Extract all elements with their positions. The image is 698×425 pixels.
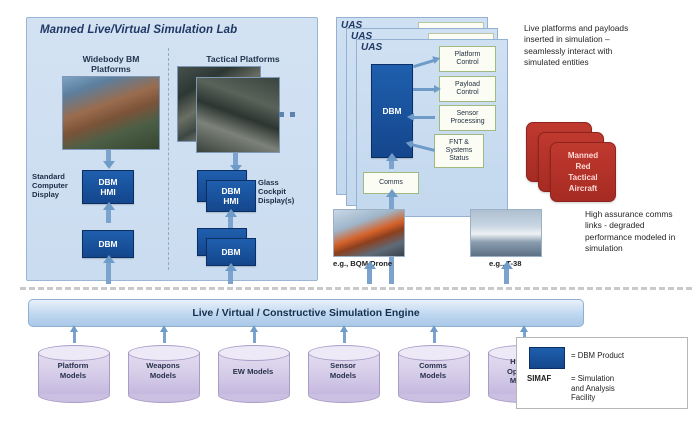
red-card-line4: Aircraft <box>569 183 597 194</box>
simulation-engine-bar[interactable]: Live / Virtual / Constructive Simulation… <box>28 299 584 327</box>
live-virtual-boundary-line <box>20 287 692 290</box>
widebody-dbm-hmi-box[interactable]: DBM HMI <box>82 170 134 204</box>
t38-photo <box>470 209 542 257</box>
widebody-dbm-box[interactable]: DBM <box>82 230 134 258</box>
platform-control-line2: Control <box>456 59 478 67</box>
live-platforms-note: Live platforms and payloads inserted in … <box>524 23 644 69</box>
uas-sensor-processing-box[interactable]: Sensor Processing <box>439 105 496 131</box>
cylinder-label: Platform Models <box>38 361 108 380</box>
glass-line3: Display(s) <box>258 196 310 205</box>
simaf-value-line3: Facility <box>571 393 677 403</box>
dbm-comms-arrow <box>389 160 394 169</box>
engine-stub-5 <box>433 331 436 343</box>
engine-stub-2 <box>163 331 166 343</box>
uas-dbm-label: DBM <box>382 106 401 116</box>
sensor-processing-line2: Processing <box>450 118 484 126</box>
payload-control-line1: Payload <box>455 81 480 89</box>
tactical-photo-front <box>196 77 280 153</box>
t38-caption: e.g., T-38 <box>489 259 549 268</box>
cyl4-line1: Comms <box>398 361 468 371</box>
legend-box: = DBM Product SIMAF = Simulation and Ana… <box>516 337 688 409</box>
simaf-value-label: = Simulation and Analysis Facility <box>571 374 677 403</box>
tactical-hmi-line1: DBM <box>221 186 240 196</box>
simaf-value-line1: = Simulation <box>571 374 677 384</box>
payload-control-line2: Control <box>456 89 478 97</box>
t38-to-engine-arrow <box>504 268 509 284</box>
std-display-line3: Display <box>32 190 80 199</box>
cyl1-line1: Weapons <box>128 361 198 371</box>
tactical-ellipsis-dot-1 <box>279 112 284 117</box>
tactical-hmi-line2: HMI <box>223 196 238 206</box>
widebody-column-title: Widebody BM Platforms <box>58 54 164 74</box>
dbm-product-label: = DBM Product <box>571 351 624 361</box>
cyl3-line2: Models <box>308 371 378 381</box>
fnt-status-line1: FNT & <box>449 139 469 147</box>
cylinder-label: EW Models <box>218 367 288 377</box>
simulation-engine-label: Live / Virtual / Constructive Simulation… <box>192 308 419 319</box>
tactical-ellipsis-dot-2 <box>290 112 295 117</box>
uas-label-front: UAS <box>361 42 382 53</box>
bqm-drone-to-engine-arrow <box>367 268 372 284</box>
widebody-hmi-line1: DBM <box>98 177 117 187</box>
engine-stub-1 <box>73 331 76 343</box>
engine-stub-3 <box>253 331 256 343</box>
bqm-drone-photo <box>333 209 405 257</box>
cylinder-top <box>308 345 380 361</box>
sensor-processing-line1: Sensor <box>457 110 479 118</box>
model-cylinder-platform[interactable]: Platform Models <box>38 345 110 401</box>
cylinder-label: Sensor Models <box>308 361 378 380</box>
red-card-line2: Red <box>575 161 590 172</box>
glass-cockpit-display-label: Glass Cockpit Display(s) <box>258 178 310 205</box>
platform-control-line1: Platform <box>455 51 481 59</box>
uas-fnt-systems-status-box[interactable]: FNT & Systems Status <box>434 134 484 168</box>
standard-computer-display-label: Standard Computer Display <box>32 172 80 199</box>
cylinder-top <box>128 345 200 361</box>
red-aircraft-card-front[interactable]: Manned Red Tactical Aircraft <box>550 142 616 202</box>
manned-lab-title: Manned Live/Virtual Simulation Lab <box>40 24 237 36</box>
cyl4-line2: Models <box>398 371 468 381</box>
tactical-photo-to-hmi-arrow <box>233 153 238 166</box>
tactical-dbm-hmi-box[interactable]: DBM HMI <box>206 180 256 212</box>
fnt-status-line2: Systems <box>446 147 472 155</box>
widebody-photo-to-hmi-arrow <box>106 150 111 162</box>
cyl3-line1: Sensor <box>308 361 378 371</box>
tactical-dbm-label: DBM <box>221 247 240 257</box>
dbm-to-payload-control-arrow <box>413 88 435 91</box>
uas-payload-control-box[interactable]: Payload Control <box>439 76 496 102</box>
widebody-dbm-label: DBM <box>98 239 117 249</box>
dbm-product-swatch <box>529 347 565 369</box>
model-cylinder-sensor[interactable]: Sensor Models <box>308 345 380 401</box>
widebody-hmi-dbm-arrow <box>106 209 111 223</box>
widebody-hmi-line2: HMI <box>100 187 115 197</box>
cyl0-line2: Models <box>38 371 108 381</box>
cylinder-top <box>38 345 110 361</box>
cylinder-label: Weapons Models <box>128 361 198 380</box>
engine-stub-4 <box>343 331 346 343</box>
lab-column-divider <box>168 48 169 270</box>
cyl1-line2: Models <box>128 371 198 381</box>
tactical-column-title: Tactical Platforms <box>180 54 306 64</box>
cylinder-label: Comms Models <box>398 361 468 380</box>
cylinder-top <box>218 345 290 361</box>
cylinder-top <box>398 345 470 361</box>
model-cylinder-weapons[interactable]: Weapons Models <box>128 345 200 401</box>
high-assurance-note: High assurance comms links - degraded pe… <box>585 209 677 255</box>
uas-comms-label: Comms <box>379 179 403 187</box>
red-card-line3: Tactical <box>568 172 597 183</box>
std-display-line2: Computer <box>32 181 80 190</box>
model-cylinder-comms[interactable]: Comms Models <box>398 345 470 401</box>
red-card-line1: Manned <box>568 150 598 161</box>
tactical-title-line1: Tactical Platforms <box>180 54 306 64</box>
tactical-dbm-box[interactable]: DBM <box>206 238 256 266</box>
sensor-processing-to-dbm-arrow <box>413 116 435 119</box>
model-cylinder-ew[interactable]: EW Models <box>218 345 290 401</box>
widebody-photo <box>62 76 160 150</box>
tactical-hmi-dbm-arrow <box>228 216 233 228</box>
widebody-title-line2: Platforms <box>58 64 164 74</box>
uas-platform-control-box[interactable]: Platform Control <box>439 46 496 72</box>
cyl2-line1: EW Models <box>218 367 288 377</box>
fnt-status-line3: Status <box>449 155 469 163</box>
simaf-value-line2: and Analysis <box>571 384 677 394</box>
glass-line2: Cockpit <box>258 187 310 196</box>
cyl0-line1: Platform <box>38 361 108 371</box>
widebody-dbm-to-engine-arrow <box>106 262 111 284</box>
glass-line1: Glass <box>258 178 310 187</box>
std-display-line1: Standard <box>32 172 80 181</box>
widebody-title-line1: Widebody BM <box>58 54 164 64</box>
simaf-key-label: SIMAF <box>527 374 551 384</box>
tactical-dbm-to-engine-arrow <box>228 270 233 284</box>
